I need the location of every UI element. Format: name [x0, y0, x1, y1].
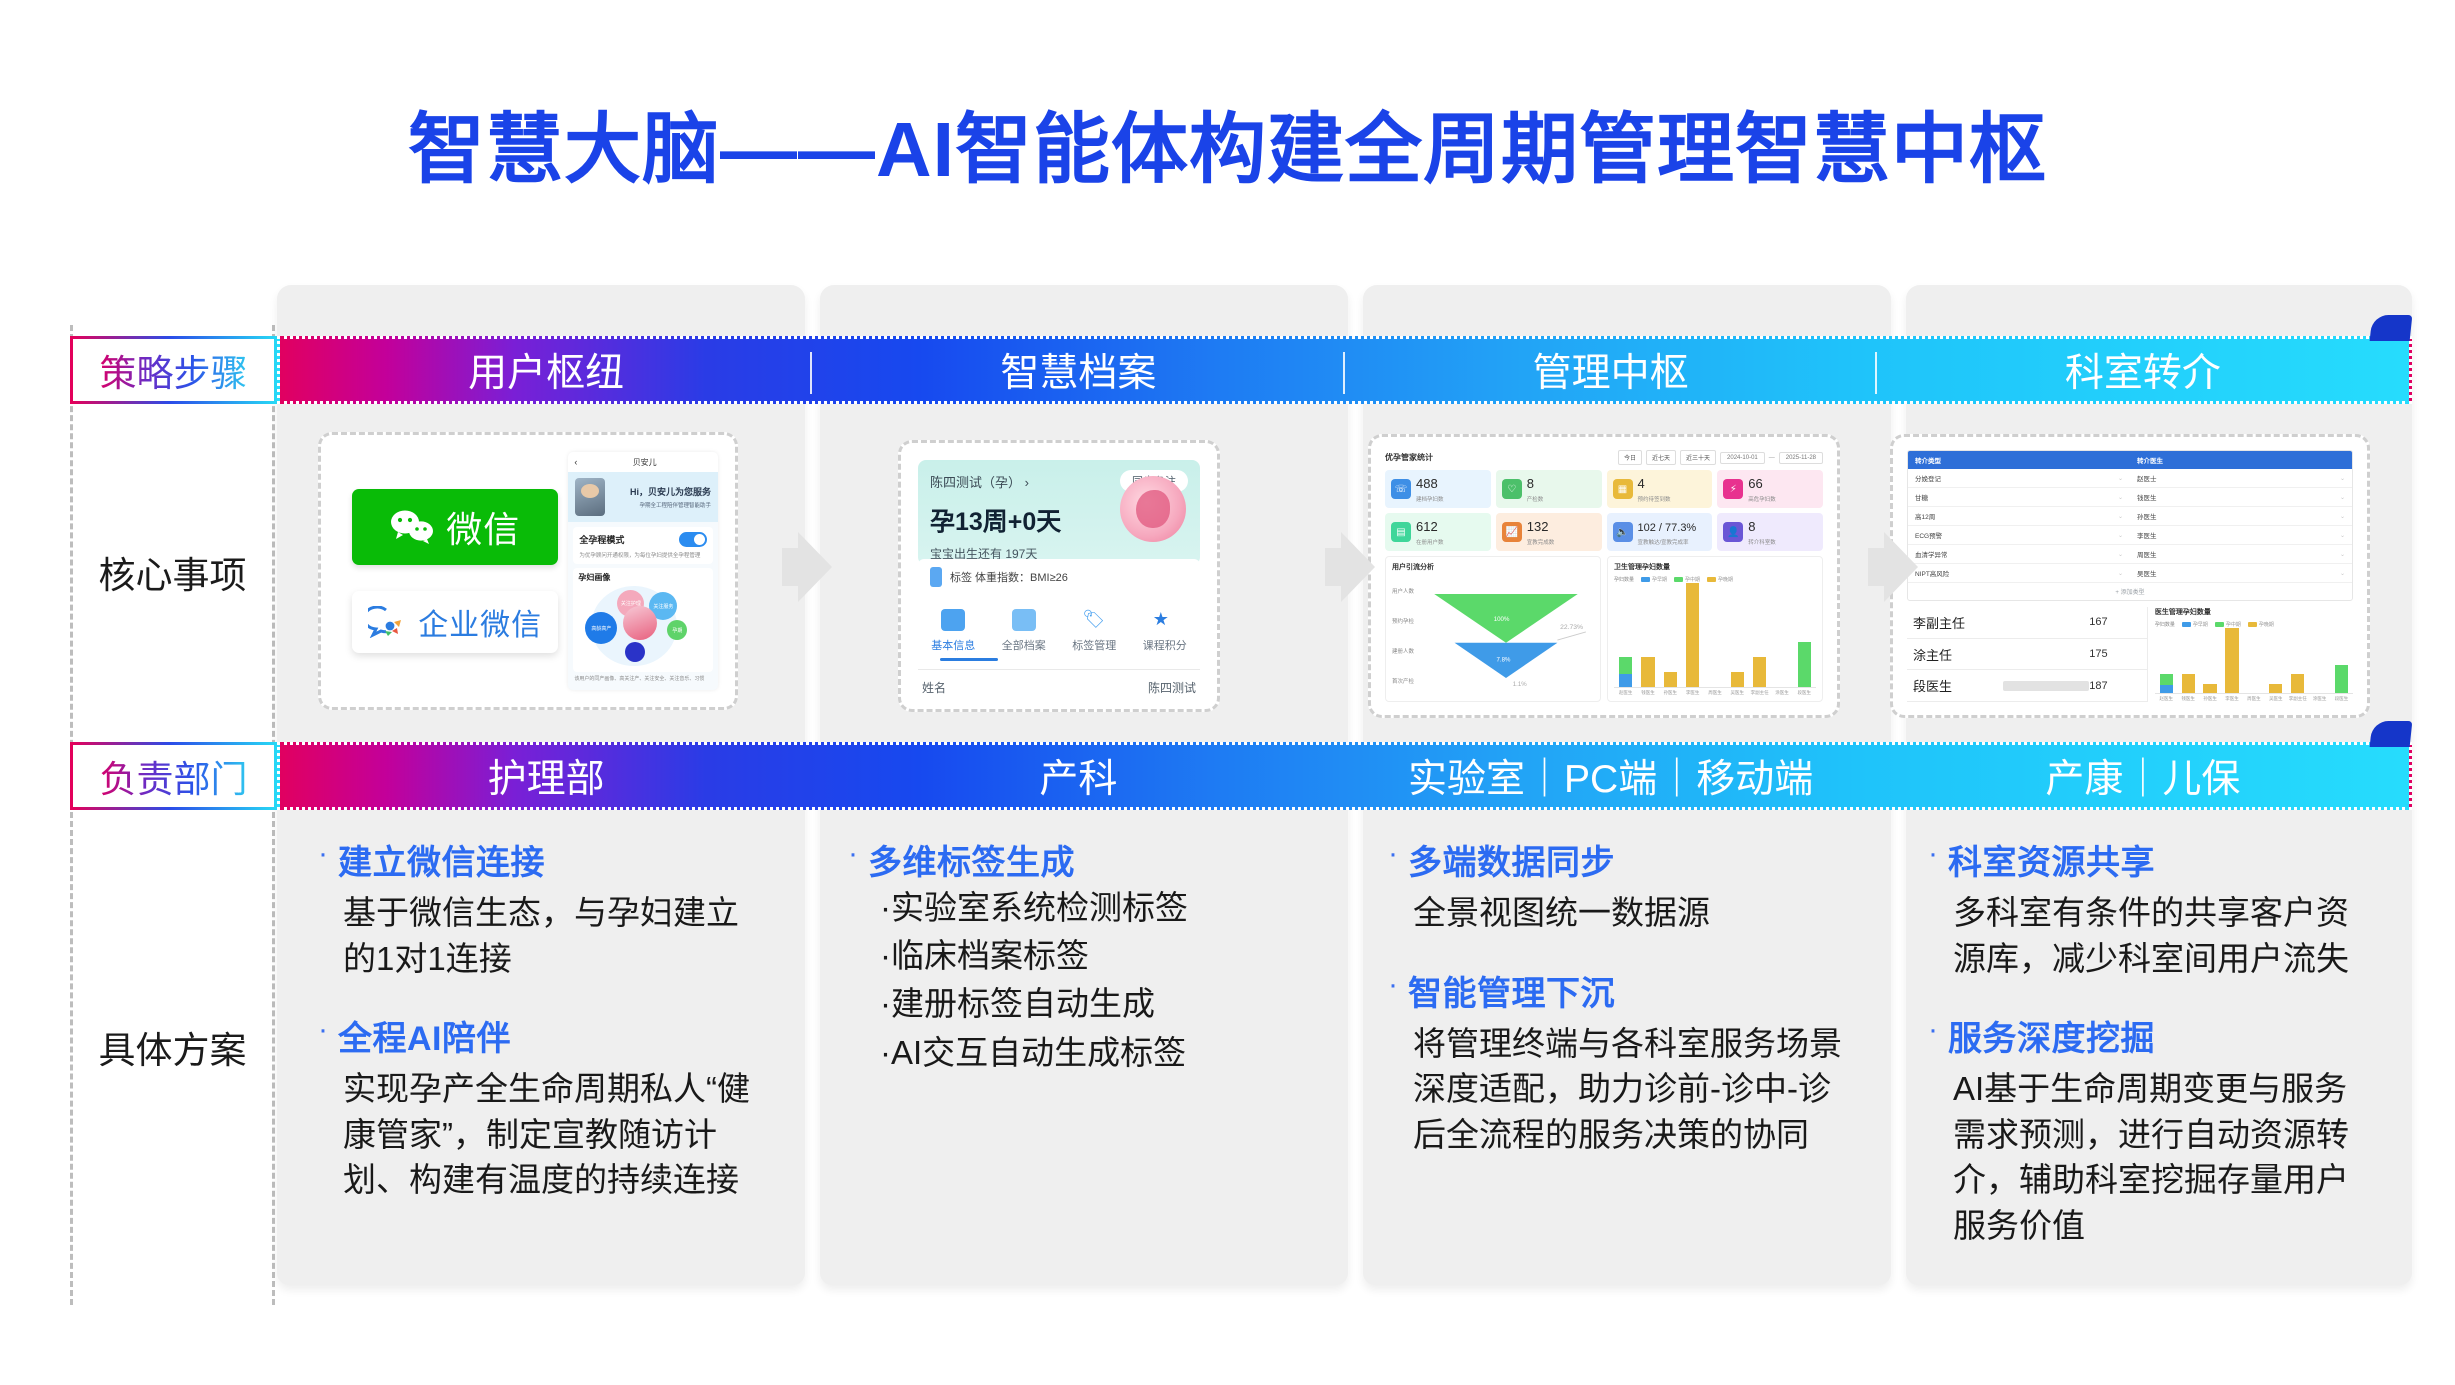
step-arrow-2 — [1321, 528, 1379, 606]
dept-cell-1[interactable]: 护理部 — [280, 745, 812, 807]
row-label-detailed-plan: 具体方案 — [70, 1020, 275, 1074]
step-arrow-3 — [1864, 528, 1922, 606]
dept-cell-3[interactable]: 实验室｜PC端｜移动端 — [1345, 745, 1877, 807]
step-cell-4[interactable]: 科室转介 — [1877, 339, 2409, 401]
page-title: 智慧大脑——AI智能体构建全周期管理智慧中枢 — [0, 88, 2455, 199]
bullet-dot-icon: · — [318, 839, 328, 869]
bar-x-label: 李副主任 — [2288, 696, 2307, 702]
referral-row: 涂主任175 — [1907, 639, 2147, 671]
row-label-strategy-steps: 策略步骤 — [70, 336, 277, 404]
bar-x-label: 段医生 — [1795, 690, 1814, 696]
bar-column — [1683, 583, 1702, 687]
bar-column — [1772, 583, 1791, 687]
column-body-4: ·科室资源共享多科室有条件的共享客户资源库，减少科室间用户流失·服务深度挖掘AI… — [1928, 835, 2378, 1278]
bullet-subitem: ·建册标签自动生成 — [880, 980, 1308, 1028]
bar-column — [2332, 628, 2351, 693]
referral-doctor-rows: 李副主任167涂主任175段医生187 — [1907, 607, 2148, 702]
bullet-title: 科室资源共享 — [1948, 835, 2155, 884]
wechat-icon — [390, 509, 434, 545]
referral-doctor-cell[interactable]: 李医生⌄ — [2130, 526, 2352, 545]
bullet-group: ·智能管理下沉将管理终端与各科室服务场景深度适配，助力诊前-诊中-诊后全流程的服… — [1388, 966, 1858, 1158]
svg-text:1.1%: 1.1% — [1513, 681, 1527, 688]
step-cell-1[interactable]: 用户枢纽 — [280, 339, 812, 401]
work-wechat-brand-label: 企业微信 — [418, 600, 542, 644]
tab-tag-manage[interactable]: 🏷 标签管理 — [1059, 609, 1130, 653]
bullet-title: 多端数据同步 — [1408, 835, 1615, 884]
wechat-phone-preview: ‹ 贝安儿 Hi，贝安儿为您服务 孕期全工程陪伴管理智能助手 全孕程模式 — [568, 452, 718, 690]
bullet-dot-icon: · — [1928, 1015, 1938, 1045]
svg-text:22.73%: 22.73% — [1560, 624, 1583, 631]
step-cell-2[interactable]: 智慧档案 — [812, 339, 1344, 401]
bubble-4: 孕期 — [667, 620, 687, 640]
phone-nav-title: 贝安儿 — [577, 457, 712, 468]
row-label-core-items: 核心事项 — [70, 545, 275, 599]
call-icon: ☏ — [1391, 479, 1411, 499]
bar-column — [1795, 583, 1814, 687]
svg-text:7.8%: 7.8% — [1497, 657, 1511, 664]
column-body-2: ·多维标签生成·实验室系统检测标签·临床档案标签·建册标签自动生成·AI交互自动… — [848, 835, 1308, 1107]
bullet-title-row: ·建立微信连接 — [318, 835, 768, 884]
referral-doctor-cell[interactable]: 吴医生⌄ — [2130, 564, 2352, 583]
referral-row-name: 段医生 — [1907, 676, 2003, 695]
bar-column — [1661, 583, 1680, 687]
mockup-dashboard: 优孕管家统计 今日 近七天 近三十天 2024-10-01 — 2025-11-… — [1368, 434, 1840, 718]
row-label-responsible-dept: 负责部门 — [70, 742, 277, 810]
bullet-description: AI基于生命周期变更与服务需求预测，进行自动资源转介，辅助科室挖掘存量用户服务价… — [1953, 1066, 2378, 1248]
doctor-avatar — [575, 478, 605, 516]
bullet-title-row: ·全程AI陪伴 — [318, 1011, 768, 1060]
row-label-guides — [70, 325, 275, 1305]
referral-type-cell[interactable]: NIPT高风险⌄ — [1908, 564, 2130, 583]
bar-x-label: 周医生 — [2244, 696, 2263, 702]
date-range-start[interactable]: 2024-10-01 — [1720, 452, 1765, 464]
referral-chart-title: 医生管理孕妇数量 — [2155, 607, 2353, 617]
filter-30days[interactable]: 近三十天 — [1680, 450, 1716, 465]
all-records-icon — [1012, 609, 1036, 631]
referral-doctor-cell[interactable]: 赵医士⌄ — [2130, 469, 2352, 488]
bullet-title: 多维标签生成 — [868, 835, 1075, 884]
referral-row-name: 涂主任 — [1907, 645, 2003, 664]
bottle-icon — [930, 567, 942, 587]
step-cell-3[interactable]: 管理中枢 — [1345, 339, 1877, 401]
referral-row-value: 187 — [2089, 680, 2147, 692]
referral-row: 段医生187 — [1907, 670, 2147, 702]
filter-7days[interactable]: 近七天 — [1646, 450, 1676, 465]
bar-x-label: 涂医生 — [2310, 696, 2329, 702]
svg-text:100%: 100% — [1494, 616, 1510, 623]
bar-x-label: 李副主任 — [1750, 690, 1769, 696]
heart-doc-icon: ♡ — [1502, 479, 1522, 499]
bullet-title-row: ·智能管理下沉 — [1388, 966, 1858, 1015]
mockup-referral: 转介类型 转介医生 分娩登记⌄甘糖⌄高12周⌄ECG预警⌄血清学异常⌄NIPT高… — [1890, 434, 2370, 718]
hero-sub: 孕期全工程陪伴管理智能助手 — [611, 501, 711, 509]
bar-column — [2244, 628, 2263, 693]
filter-today[interactable]: 今日 — [1618, 450, 1642, 465]
stat-card: ▤612在册用户数 — [1385, 513, 1491, 551]
book-icon: ▤ — [1391, 522, 1411, 542]
bar-x-label: 钱医生 — [2179, 696, 2198, 702]
tag-icon: 🏷 — [1082, 609, 1106, 631]
bullet-group: ·服务深度挖掘AI基于生命周期变更与服务需求预测，进行自动资源转介，辅助科室挖掘… — [1928, 1011, 2378, 1248]
bar-chart-pane: 卫生管理孕妇数量 孕妇数量 孕早期 孕中期 孕晚期 赵医生钱医生孙医生李医生周医… — [1607, 556, 1823, 702]
stat-card: ⚡66高危孕妇数 — [1717, 470, 1823, 508]
referral-row-name: 李副主任 — [1907, 613, 2003, 632]
tab-course-points[interactable]: ★ 课程积分 — [1130, 609, 1201, 653]
bullet-description: 多科室有条件的共享客户资源库，减少科室间用户流失 — [1953, 890, 2378, 981]
step-label-2: 智慧档案 — [1000, 342, 1156, 398]
bullet-subitem: ·临床档案标签 — [880, 932, 1308, 980]
bar-x-label: 赵医生 — [1616, 690, 1635, 696]
step-label-1: 用户枢纽 — [468, 342, 624, 398]
bullet-title: 全程AI陪伴 — [338, 1011, 511, 1060]
tab-basic-info[interactable]: 基本信息 — [918, 609, 989, 653]
column-body-3: ·多端数据同步全景视图统一数据源·智能管理下沉将管理终端与各科室服务场景深度适配… — [1388, 835, 1858, 1187]
dept-label-4: 产康｜儿保 — [2045, 748, 2240, 804]
step-arrow-1 — [778, 528, 836, 606]
toggle-label: 全孕程模式 — [579, 533, 624, 546]
bullet-dot-icon: · — [1388, 970, 1398, 1000]
bar-column — [1638, 583, 1657, 687]
dept-cell-4[interactable]: 产康｜儿保 — [1877, 745, 2409, 807]
bullet-title-row: ·服务深度挖掘 — [1928, 1011, 2378, 1060]
bubbles-footer: 该用户的同产画像、高关注产、关注安全、关注音乐、习惯 — [568, 672, 718, 689]
funnel-pane: 用户引流分析 用户人数 预约孕检 建册人数 首次产检 — [1385, 556, 1601, 702]
funnel-chart: 22.73% 1.1% 100% 7.8% — [1418, 576, 1594, 696]
bar-x-label: 段医生 — [2332, 696, 2351, 702]
bullet-description: 全景视图统一数据源 — [1413, 890, 1858, 936]
bmi-note: 标签 体重指数：BMI≥26 — [950, 569, 1068, 585]
bullet-group: ·科室资源共享多科室有条件的共享客户资源库，减少科室间用户流失 — [1928, 835, 2378, 981]
referral-row-value: 167 — [2089, 616, 2147, 628]
bar-column — [2288, 628, 2307, 693]
bar-chart-title: 卫生管理孕妇数量 — [1614, 562, 1816, 572]
bullet-title: 服务深度挖掘 — [1948, 1011, 2155, 1060]
chart-icon: 📈 — [1502, 522, 1522, 542]
field-label-name: 姓名 — [922, 679, 946, 696]
fetus-illustration — [1120, 476, 1186, 542]
referral-row-value: 175 — [2089, 648, 2147, 660]
bar-fold-corner — [2370, 721, 2413, 747]
bullet-group: ·建立微信连接基于微信生态，与孕妇建立的1对1连接 — [318, 835, 768, 981]
star-icon: ★ — [1153, 609, 1177, 631]
referral-col2-header: 转介医生 — [2130, 451, 2352, 469]
basic-info-icon — [941, 609, 965, 631]
speaker-icon: 🔈 — [1613, 522, 1633, 542]
bullet-subitem: ·实验室系统检测标签 — [880, 884, 1308, 932]
dashboard-bars — [1614, 583, 1816, 688]
referral-row: 李副主任167 — [1907, 607, 2147, 639]
bar-column — [1750, 583, 1769, 687]
bar-x-label: 周医生 — [1705, 690, 1724, 696]
referral-type-cell[interactable]: 甘糖⌄ — [1908, 488, 2130, 507]
hero-title: Hi，贝安儿为您服务 — [611, 485, 711, 498]
strategy-steps-bar: 用户枢纽 智慧档案 管理中枢 科室转介 — [277, 336, 2412, 404]
bar-x-label: 孙医生 — [2201, 696, 2220, 702]
user-icon: 👤 — [1723, 522, 1743, 542]
referral-type-cell[interactable]: 分娩登记⌄ — [1908, 469, 2130, 488]
bar-x-label: 涂医生 — [1772, 690, 1791, 696]
stat-card: ♡8产检数 — [1496, 470, 1602, 508]
slide-root: 智慧大脑——AI智能体构建全周期管理智慧中枢 策略步骤 用户枢纽 智慧档案 管理… — [0, 0, 2455, 1385]
bullet-title-row: ·科室资源共享 — [1928, 835, 2378, 884]
date-range-end[interactable]: 2025-11-28 — [1779, 452, 1823, 464]
patient-name[interactable]: 陈四测试（孕） › — [930, 472, 1029, 491]
bar-column — [2157, 628, 2176, 693]
bullet-group: ·全程AI陪伴实现孕产全生命周期私人“健康管家”，制定宣教随访计划、构建有温度的… — [318, 1011, 768, 1203]
stat-card: 👤8转介科室数 — [1717, 513, 1823, 551]
referral-doctor-cell[interactable]: 孙医生⌄ — [2130, 507, 2352, 526]
referral-doctor-cell[interactable]: 钱医生⌄ — [2130, 488, 2352, 507]
bar-column — [2179, 628, 2198, 693]
referral-type-cell[interactable]: ECG预警⌄ — [1908, 526, 2130, 545]
bullet-dot-icon: · — [1928, 839, 1938, 869]
pregnancy-profile-bubbles: 孕妇画像 关注护理 关注服务 高龄高产 孕期 — [573, 568, 713, 672]
dept-label-3: 实验室｜PC端｜移动端 — [1408, 748, 1813, 804]
bar-x-label: 吴医生 — [1728, 690, 1747, 696]
referral-doctor-cell[interactable]: 周医生⌄ — [2130, 545, 2352, 564]
column-body-1: ·建立微信连接基于微信生态，与孕妇建立的1对1连接·全程AI陪伴实现孕产全生命周… — [318, 835, 768, 1233]
wechat-brand-label: 微信 — [446, 501, 520, 553]
calendar-icon: ▦ — [1613, 479, 1633, 499]
stat-card: 🔈102 / 77.3%宣教触达/宣教完成率 — [1607, 513, 1713, 551]
step-label-3: 管理中枢 — [1533, 342, 1689, 398]
referral-col1-header: 转介类型 — [1908, 451, 2130, 469]
bullet-title: 建立微信连接 — [338, 835, 545, 884]
bullet-description: 基于微信生态，与孕妇建立的1对1连接 — [343, 890, 768, 981]
full-pregnancy-mode-toggle[interactable] — [679, 532, 707, 547]
row-label-responsible-dept-text: 负责部门 — [100, 749, 248, 803]
mockup-pregnancy-record: 陈四测试（孕） › 同步备注 孕13周+0天 宝宝出生还有 197天 标签 体重… — [898, 440, 1220, 712]
stat-card: ▦4预约待签到数 — [1607, 470, 1713, 508]
bolt-icon: ⚡ — [1723, 479, 1743, 499]
funnel-title: 用户引流分析 — [1392, 562, 1594, 572]
dashboard-title: 优孕管家统计 — [1385, 452, 1433, 463]
dept-label-2: 产科 — [1039, 748, 1117, 804]
stat-card: 📈132宣教完成数 — [1496, 513, 1602, 551]
bar-x-label: 钱医生 — [1638, 690, 1657, 696]
referral-type-cell[interactable]: 血清学异常⌄ — [1908, 545, 2130, 564]
bullet-dot-icon: · — [1388, 839, 1398, 869]
step-label-4: 科室转介 — [2065, 342, 2221, 398]
row-label-strategy-steps-text: 策略步骤 — [100, 343, 248, 397]
work-wechat-logo-card: 企业微信 — [352, 591, 558, 653]
bar-x-label: 赵医生 — [2157, 696, 2176, 702]
bar-fold-corner — [2370, 315, 2413, 341]
toggle-sub: 为优孕顾问开通权限，为每位孕妇提供全孕程管理 — [579, 551, 707, 559]
bubbles-section-title: 孕妇画像 — [573, 572, 713, 583]
bar-column — [1616, 583, 1635, 687]
bar-column — [2266, 628, 2285, 693]
work-wechat-icon — [368, 606, 408, 638]
bullet-dot-icon: · — [318, 1015, 328, 1045]
bullet-group: ·多端数据同步全景视图统一数据源 — [1388, 835, 1858, 936]
bullet-title: 智能管理下沉 — [1408, 966, 1615, 1015]
referral-type-cell[interactable]: 高12周⌄ — [1908, 507, 2130, 526]
bullet-description: 实现孕产全生命周期私人“健康管家”，制定宣教随访计划、构建有温度的持续连接 — [343, 1066, 768, 1203]
bar-column — [2201, 628, 2220, 693]
stat-card: ☏488建档孕妇数 — [1385, 470, 1491, 508]
responsible-dept-bar: 护理部 产科 实验室｜PC端｜移动端 产康｜儿保 — [277, 742, 2412, 810]
tab-all-records[interactable]: 全部档案 — [989, 609, 1060, 653]
bar-x-label: 孙医生 — [1661, 690, 1680, 696]
bar-x-label: 李医生 — [1683, 690, 1702, 696]
bullet-group: ·多维标签生成·实验室系统检测标签·临床档案标签·建册标签自动生成·AI交互自动… — [848, 835, 1308, 1077]
redacted-bar — [2003, 649, 2089, 659]
bar-x-label: 吴医生 — [2266, 696, 2285, 702]
bar-column — [2310, 628, 2329, 693]
bullet-dot-icon: · — [848, 839, 858, 869]
bullet-title-row: ·多端数据同步 — [1388, 835, 1858, 884]
wechat-logo-card: 微信 — [352, 489, 558, 565]
redacted-bar — [2003, 681, 2089, 691]
bar-x-label: 李医生 — [2223, 696, 2242, 702]
dashboard-stat-cards: ☏488建档孕妇数 ♡8产检数 ▦4预约待签到数 ⚡66高危孕妇数 ▤612在册… — [1385, 470, 1823, 551]
bar-column — [1705, 583, 1724, 687]
field-value-name: 陈四测试 — [1148, 679, 1196, 696]
referral-bars — [2155, 628, 2353, 694]
bullet-subitem: ·AI交互自动生成标签 — [880, 1029, 1308, 1077]
mockup-wechat: 微信 企业微信 ‹ — [318, 432, 738, 710]
redacted-bar — [2003, 617, 2089, 627]
bullet-description: 将管理终端与各科室服务场景深度适配，助力诊前-诊中-诊后全流程的服务决策的协同 — [1413, 1021, 1858, 1158]
bar-column — [2223, 628, 2242, 693]
bullet-title-row: ·多维标签生成 — [848, 835, 1308, 884]
add-type-button[interactable]: + 添加类型 — [1908, 583, 2352, 600]
dept-cell-2[interactable]: 产科 — [812, 745, 1344, 807]
bar-column — [1728, 583, 1747, 687]
dept-label-1: 护理部 — [488, 748, 605, 804]
